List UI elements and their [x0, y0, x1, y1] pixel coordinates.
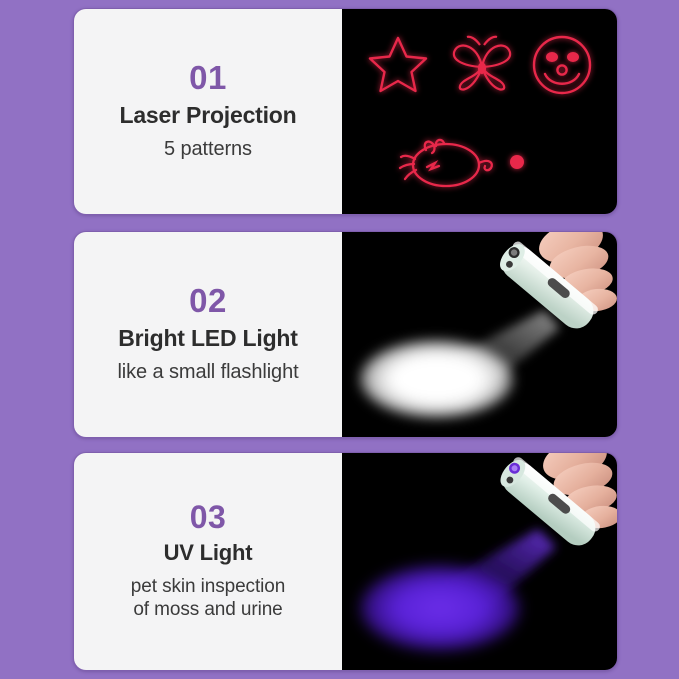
infographic-board: 01 Laser Projection 5 patterns [0, 0, 679, 679]
hand-holding-device [477, 453, 617, 583]
star-pattern-icon [368, 35, 428, 93]
card-subtitle: pet skin inspection of moss and urine [131, 575, 285, 621]
feature-card-uv-light: 03 UV Light pet skin inspection of moss … [73, 452, 618, 671]
smiley-face-pattern-icon [530, 33, 594, 97]
dot-pattern-icon [506, 151, 528, 173]
card-number: 01 [189, 61, 227, 96]
card-title: Laser Projection [119, 103, 296, 128]
butterfly-pattern-icon [448, 33, 516, 95]
card-subtitle: like a small flashlight [117, 360, 298, 384]
card-number: 03 [190, 501, 227, 535]
mouse-pattern-icon [399, 133, 499, 195]
card-subtitle-line-2: of moss and urine [131, 598, 285, 621]
card-number: 02 [189, 284, 227, 319]
card-title: UV Light [164, 541, 253, 565]
card-subtitle: 5 patterns [164, 137, 252, 161]
feature-card-laser-projection: 01 Laser Projection 5 patterns [73, 8, 618, 215]
card-text-pane: 03 UV Light pet skin inspection of moss … [74, 453, 342, 670]
card-text-pane: 01 Laser Projection 5 patterns [74, 9, 342, 214]
card-subtitle-line-1: pet skin inspection [131, 575, 285, 598]
uv-beam-scene [342, 453, 617, 670]
uv-light-photo [342, 453, 617, 670]
card-title: Bright LED Light [118, 326, 298, 351]
hand-holding-device [475, 232, 617, 368]
card-text-pane: 02 Bright LED Light like a small flashli… [74, 232, 342, 437]
led-flashlight-photo [342, 232, 617, 437]
laser-patterns-photo [342, 9, 617, 214]
feature-card-bright-led-light: 02 Bright LED Light like a small flashli… [73, 231, 618, 438]
led-beam-scene [342, 232, 617, 437]
